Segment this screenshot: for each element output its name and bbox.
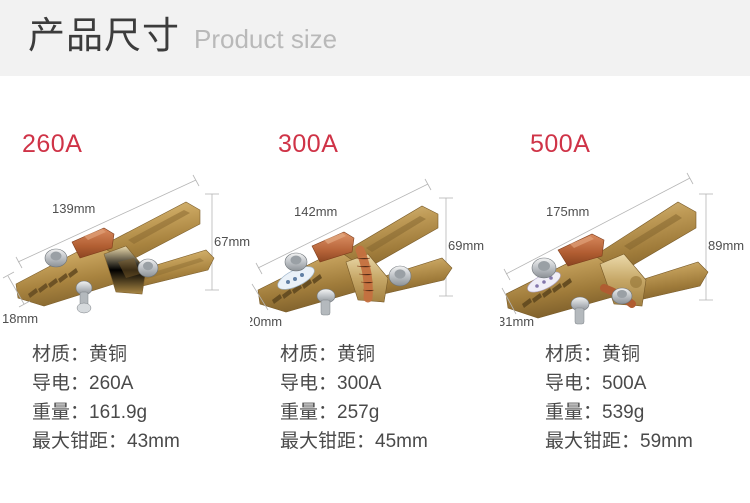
spec-value: 161.9g xyxy=(89,402,147,423)
dimension-width-label: 18mm xyxy=(2,311,38,326)
page-header: 产品尺寸 Product size xyxy=(28,17,337,54)
spec-key: 最大钳距： xyxy=(32,431,127,452)
spec-key: 导电： xyxy=(32,373,89,394)
clamp-illustration xyxy=(16,202,214,313)
spec-value: 257g xyxy=(337,402,379,423)
dimension-height: 89mm xyxy=(699,194,744,300)
spec-row-material: 材质：黄铜 xyxy=(32,340,180,369)
spec-row-weight: 重量：539g xyxy=(545,398,693,427)
spec-row-current: 导电：300A xyxy=(280,369,428,398)
spec-value: 300A xyxy=(337,373,381,394)
spec-key: 最大钳距： xyxy=(545,431,640,452)
product-model-label: 260A xyxy=(22,132,82,157)
clamp-illustration xyxy=(506,202,708,324)
spec-value: 59mm xyxy=(640,431,693,452)
spec-key: 重量： xyxy=(545,402,602,423)
spec-value: 500A xyxy=(602,373,646,394)
clamp-illustration xyxy=(258,206,452,315)
spec-value: 43mm xyxy=(127,431,180,452)
product-model-label: 500A xyxy=(530,132,590,157)
dimension-width-label: 20mm xyxy=(250,314,282,326)
dimension-height: 67mm xyxy=(205,194,250,290)
spec-row-max-opening: 最大钳距：59mm xyxy=(545,427,693,456)
spec-value: 黄铜 xyxy=(337,344,375,365)
spec-value: 260A xyxy=(89,373,133,394)
page-title-en: Product size xyxy=(194,26,337,52)
dimension-height: 69mm xyxy=(439,198,484,296)
spec-value: 45mm xyxy=(375,431,428,452)
product-model-label: 300A xyxy=(278,132,338,157)
spec-value: 黄铜 xyxy=(89,344,127,365)
dimension-height-label: 69mm xyxy=(448,238,484,253)
product-specs: 材质：黄铜 导电：500A 重量：539g 最大钳距：59mm xyxy=(545,340,693,456)
product-specs: 材质：黄铜 导电：300A 重量：257g 最大钳距：45mm xyxy=(280,340,428,456)
page-title-cn: 产品尺寸 xyxy=(28,17,180,54)
product-image-500a: 175mm 89mm xyxy=(500,158,750,326)
product-card-300a: 300A xyxy=(250,76,500,503)
spec-key: 材质： xyxy=(280,344,337,365)
spec-key: 最大钳距： xyxy=(280,431,375,452)
spec-row-weight: 重量：161.9g xyxy=(32,398,180,427)
product-card-500a: 500A xyxy=(500,76,750,503)
spec-row-weight: 重量：257g xyxy=(280,398,428,427)
dimension-length-label: 139mm xyxy=(52,201,95,216)
spec-row-current: 导电：500A xyxy=(545,369,693,398)
dimension-height-label: 89mm xyxy=(708,238,744,253)
spec-key: 导电： xyxy=(545,373,602,394)
spec-row-current: 导电：260A xyxy=(32,369,180,398)
product-specs: 材质：黄铜 导电：260A 重量：161.9g 最大钳距：43mm xyxy=(32,340,180,456)
spec-value: 539g xyxy=(602,402,644,423)
product-image-300a: 142mm 69mm xyxy=(250,158,500,326)
dimension-width-label: 31mm xyxy=(500,314,534,326)
product-image-260a: 139mm 67mm xyxy=(0,158,250,326)
product-list: 260A xyxy=(0,76,750,503)
spec-key: 重量： xyxy=(32,402,89,423)
dimension-length-label: 175mm xyxy=(546,204,589,219)
spec-key: 导电： xyxy=(280,373,337,394)
spec-row-max-opening: 最大钳距：43mm xyxy=(32,427,180,456)
spec-value: 黄铜 xyxy=(602,344,640,365)
dimension-height-label: 67mm xyxy=(214,234,250,249)
dimension-length-label: 142mm xyxy=(294,204,337,219)
spec-key: 重量： xyxy=(280,402,337,423)
spec-key: 材质： xyxy=(32,344,89,365)
spec-key: 材质： xyxy=(545,344,602,365)
product-card-260a: 260A xyxy=(0,76,250,503)
page-header-band: 产品尺寸 Product size xyxy=(0,0,750,76)
spec-row-material: 材质：黄铜 xyxy=(280,340,428,369)
spec-row-material: 材质：黄铜 xyxy=(545,340,693,369)
spec-row-max-opening: 最大钳距：45mm xyxy=(280,427,428,456)
